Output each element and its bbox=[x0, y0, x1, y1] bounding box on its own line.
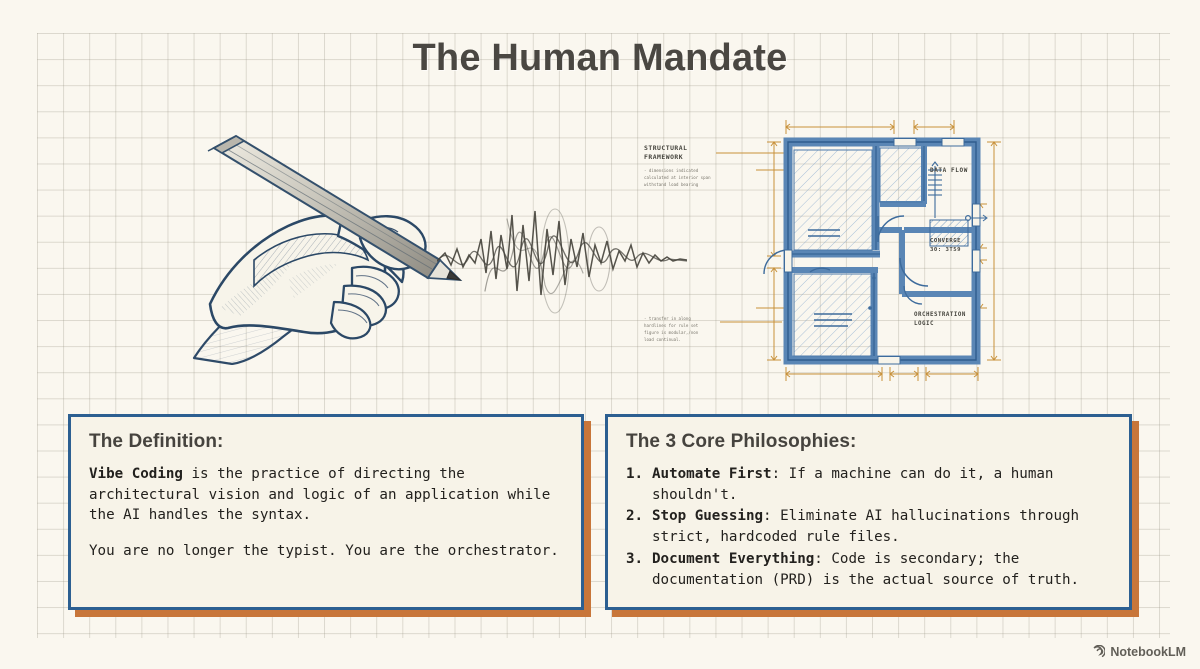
philosophies-list: Automate First: If a machine can do it, … bbox=[626, 464, 1111, 590]
svg-text:STRUCTURAL: STRUCTURAL bbox=[644, 144, 687, 152]
philosophy-term: Document Everything bbox=[652, 551, 814, 567]
philosophy-item: Automate First: If a machine can do it, … bbox=[626, 464, 1111, 505]
svg-text:withstand load bearing: withstand load bearing bbox=[644, 182, 699, 187]
philosophy-item: Document Everything: Code is secondary; … bbox=[626, 549, 1111, 590]
philosophy-term: Automate First bbox=[652, 466, 772, 482]
blueprint-label-data-flow: DATA FLOW bbox=[930, 167, 968, 174]
page-title: The Human Mandate bbox=[0, 37, 1200, 80]
infographic-poster: The Human Mandate bbox=[0, 0, 1200, 669]
notebooklm-spiral-icon bbox=[1091, 645, 1105, 659]
definition-paragraph-2: You are no longer the typist. You are th… bbox=[89, 541, 563, 562]
paragraph-spacer bbox=[89, 526, 563, 541]
illustration-band: STRUCTURAL FRAMEWORK - dimensions indica… bbox=[37, 100, 1170, 400]
blueprint-label-structural-framework: STRUCTURAL FRAMEWORK - dimensions indica… bbox=[644, 144, 784, 187]
svg-text:figure is modular,/non: figure is modular,/non bbox=[644, 330, 699, 335]
philosophy-term: Stop Guessing bbox=[652, 508, 763, 524]
blueprint-label-orchestration-logic: ORCHESTRATION LOGIC bbox=[914, 312, 966, 327]
panel-philosophies-body: Automate First: If a machine can do it, … bbox=[626, 464, 1111, 590]
notebooklm-label: NotebookLM bbox=[1110, 645, 1186, 659]
panel-definition-heading: The Definition: bbox=[89, 431, 563, 453]
dimension-lines-top bbox=[786, 120, 954, 134]
svg-text:load continual.: load continual. bbox=[644, 337, 681, 342]
philosophy-item: Stop Guessing: Eliminate AI hallucinatio… bbox=[626, 506, 1111, 547]
svg-text:FRAMEWORK: FRAMEWORK bbox=[644, 153, 683, 161]
definition-paragraph-1: Vibe Coding is the practice of directing… bbox=[89, 464, 563, 526]
svg-text:LOGIC: LOGIC bbox=[914, 321, 934, 327]
panel-definition: The Definition: Vibe Coding is the pract… bbox=[68, 414, 584, 610]
svg-text:- transfer in along: - transfer in along bbox=[644, 316, 691, 321]
svg-text:- dimensions indicated: - dimensions indicated bbox=[644, 168, 699, 173]
architectural-floor-plan: STRUCTURAL FRAMEWORK - dimensions indica… bbox=[642, 108, 1042, 393]
svg-text:DATA FLOW: DATA FLOW bbox=[930, 167, 968, 174]
svg-text:30: 3T59: 30: 3T59 bbox=[930, 247, 961, 253]
panel-philosophies-heading: The 3 Core Philosophies: bbox=[626, 431, 1111, 453]
notebooklm-watermark: NotebookLM bbox=[1091, 645, 1186, 659]
panel-definition-body: Vibe Coding is the practice of directing… bbox=[89, 464, 563, 562]
svg-text:hardlines for rule set: hardlines for rule set bbox=[644, 323, 699, 328]
svg-text:calculated at interior span: calculated at interior span bbox=[644, 175, 711, 180]
blueprint-label-notes-block: - transfer in along hardlines for rule s… bbox=[644, 316, 782, 342]
svg-text:ORCHESTRATION: ORCHESTRATION bbox=[914, 312, 966, 318]
hand-holding-pencil-sketch bbox=[192, 130, 467, 365]
definition-term: Vibe Coding bbox=[89, 466, 183, 482]
dimension-lines-bottom bbox=[786, 367, 978, 381]
svg-text:CONVERGE: CONVERGE bbox=[930, 238, 961, 244]
panel-philosophies: The 3 Core Philosophies: Automate First:… bbox=[605, 414, 1132, 610]
